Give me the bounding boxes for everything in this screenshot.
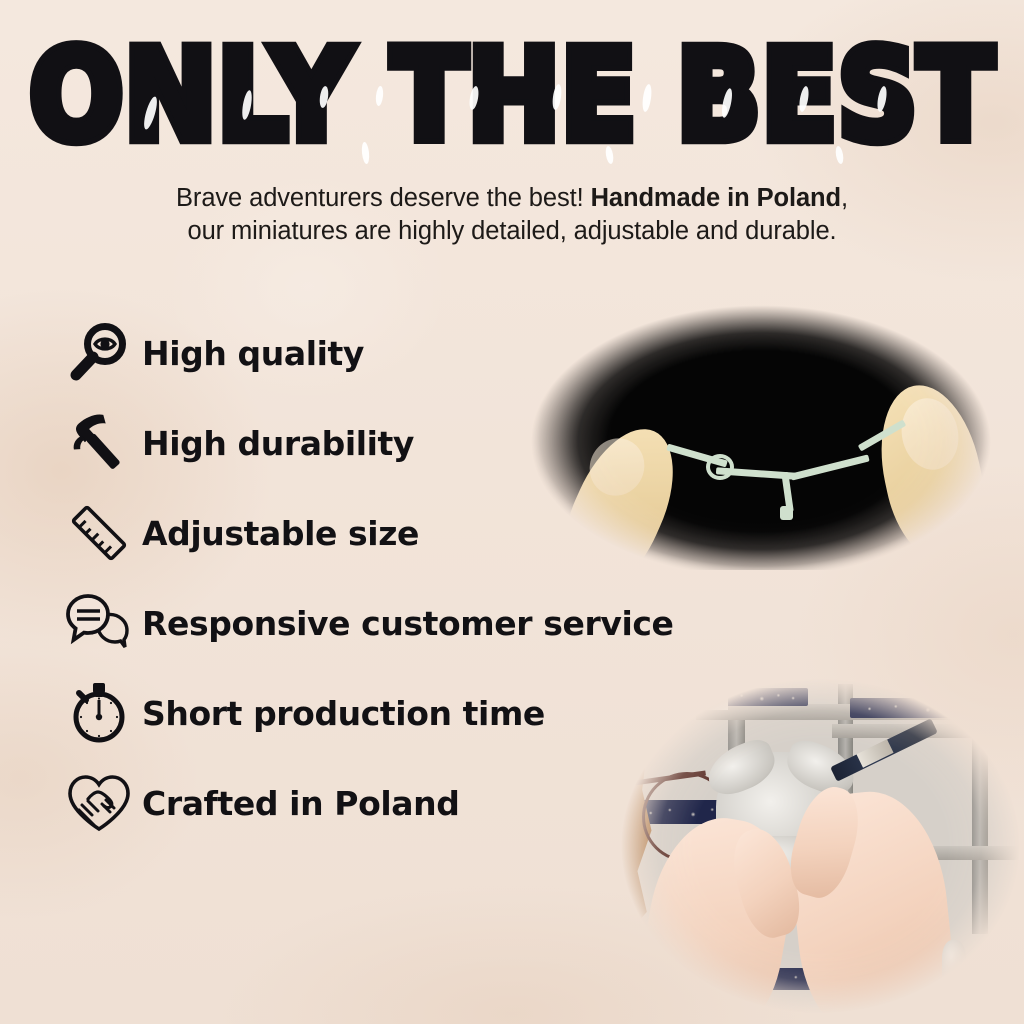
feature-label: High durability bbox=[142, 424, 414, 463]
stopwatch-icon bbox=[60, 677, 138, 749]
subtitle-suffix: , bbox=[841, 184, 848, 212]
desk-miniature bbox=[942, 940, 966, 982]
ruler-icon bbox=[60, 497, 138, 569]
feature-label: Short production time bbox=[142, 694, 545, 733]
subtitle-line-2: our miniatures are highly detailed, adju… bbox=[187, 217, 836, 245]
subtitle-prefix: Brave adventurers deserve the best! bbox=[176, 184, 591, 212]
subtitle-highlight: Handmade in Poland bbox=[591, 184, 841, 212]
hammer-icon bbox=[60, 407, 138, 479]
subtitle: Brave adventurers deserve the best! Hand… bbox=[0, 182, 1024, 248]
speech-bubbles-icon bbox=[60, 587, 138, 659]
feature-label: Responsive customer service bbox=[142, 604, 674, 643]
feature-item-high-quality[interactable]: High quality bbox=[60, 308, 760, 398]
feature-item-adjustable-size[interactable]: Adjustable size bbox=[60, 488, 760, 578]
heart-handshake-icon bbox=[60, 767, 138, 839]
subtitle-line-1: Brave adventurers deserve the best! Hand… bbox=[176, 184, 848, 212]
miniature-tray-top-right bbox=[850, 698, 1000, 718]
magnifier-eye-icon bbox=[60, 317, 138, 389]
title-block: ONLY THE BEST bbox=[0, 34, 1024, 142]
feature-item-production-time[interactable]: Short production time bbox=[60, 668, 760, 758]
feature-label: Adjustable size bbox=[142, 514, 419, 553]
feature-item-customer-service[interactable]: Responsive customer service bbox=[60, 578, 760, 668]
infographic-canvas: ONLY THE BEST Brave adventurers deserve … bbox=[0, 0, 1024, 1024]
feature-list: High quality High durability bbox=[60, 308, 760, 848]
miniature-part-tip bbox=[780, 506, 793, 520]
feature-label: High quality bbox=[142, 334, 364, 373]
feature-label: Crafted in Poland bbox=[142, 784, 459, 823]
shelf-post-right bbox=[972, 684, 988, 934]
page-title: ONLY THE BEST bbox=[30, 34, 995, 159]
feature-item-high-durability[interactable]: High durability bbox=[60, 398, 760, 488]
feature-item-crafted-in-poland[interactable]: Crafted in Poland bbox=[60, 758, 760, 848]
